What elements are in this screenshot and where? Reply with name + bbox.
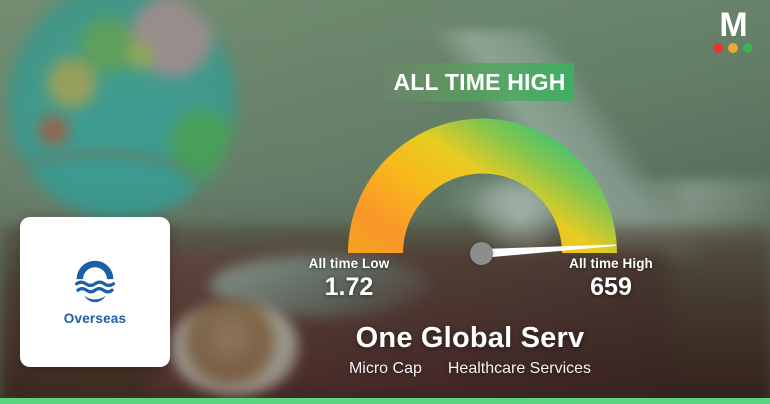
bottom-accent-bar xyxy=(0,398,770,404)
overseas-wave-icon xyxy=(72,258,118,304)
company-info: One Global Serv Micro Cap Healthcare Ser… xyxy=(190,322,750,378)
all-time-high-value: 659 xyxy=(545,273,677,302)
brand-letter: M xyxy=(710,10,756,40)
all-time-low-label: All time Low xyxy=(283,256,415,271)
all-time-high-label: All time High xyxy=(545,256,677,271)
all-time-high-block: All time High 659 xyxy=(545,256,677,302)
company-tag-sector: Healthcare Services xyxy=(448,360,591,378)
brand-dot-amber xyxy=(728,43,738,53)
company-logo-card: Overseas xyxy=(20,217,170,367)
stock-highlight-card: M ALL TIME HIGH xyxy=(0,0,770,404)
gauge-arc xyxy=(340,112,625,257)
company-tags: Micro Cap Healthcare Services xyxy=(190,360,750,378)
overseas-wordmark: Overseas xyxy=(64,311,126,326)
company-name: One Global Serv xyxy=(190,322,750,355)
gauge-arc-path xyxy=(348,119,617,253)
banner-label: ALL TIME HIGH xyxy=(393,69,565,96)
company-tag-marketcap: Micro Cap xyxy=(349,360,422,378)
all-time-low-block: All time Low 1.72 xyxy=(283,256,415,302)
price-range-gauge xyxy=(340,112,625,257)
brand-dots xyxy=(710,43,756,53)
all-time-high-banner: ALL TIME HIGH xyxy=(385,63,574,101)
brand-dot-green xyxy=(743,43,753,53)
gauge-pivot-hub xyxy=(470,242,493,265)
marketsmojo-logo: M xyxy=(710,10,756,54)
all-time-low-value: 1.72 xyxy=(283,273,415,302)
brand-dot-red xyxy=(713,43,723,53)
